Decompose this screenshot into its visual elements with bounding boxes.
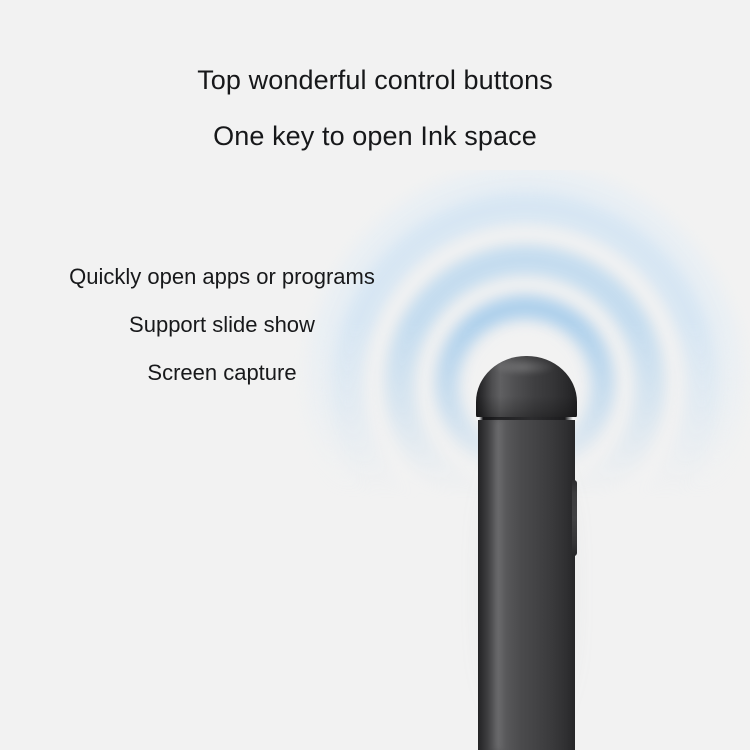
feature-item-slide-show: Support slide show [12, 301, 432, 349]
headline-block: Top wonderful control buttons One key to… [0, 52, 750, 164]
pen-side-button [572, 480, 577, 556]
pen-barrel-highlight [490, 420, 506, 750]
feature-item-open-apps: Quickly open apps or programs [12, 253, 432, 301]
stylus-pen [474, 356, 579, 750]
product-image-canvas: Top wonderful control buttons One key to… [0, 0, 750, 750]
pen-cap-highlight [494, 359, 554, 375]
headline-line-1: Top wonderful control buttons [0, 52, 750, 108]
headline-line-2: One key to open Ink space [0, 108, 750, 164]
pen-cap-shading [476, 396, 577, 418]
feature-item-screen-capture: Screen capture [12, 349, 432, 397]
feature-list: Quickly open apps or programs Support sl… [12, 253, 432, 397]
